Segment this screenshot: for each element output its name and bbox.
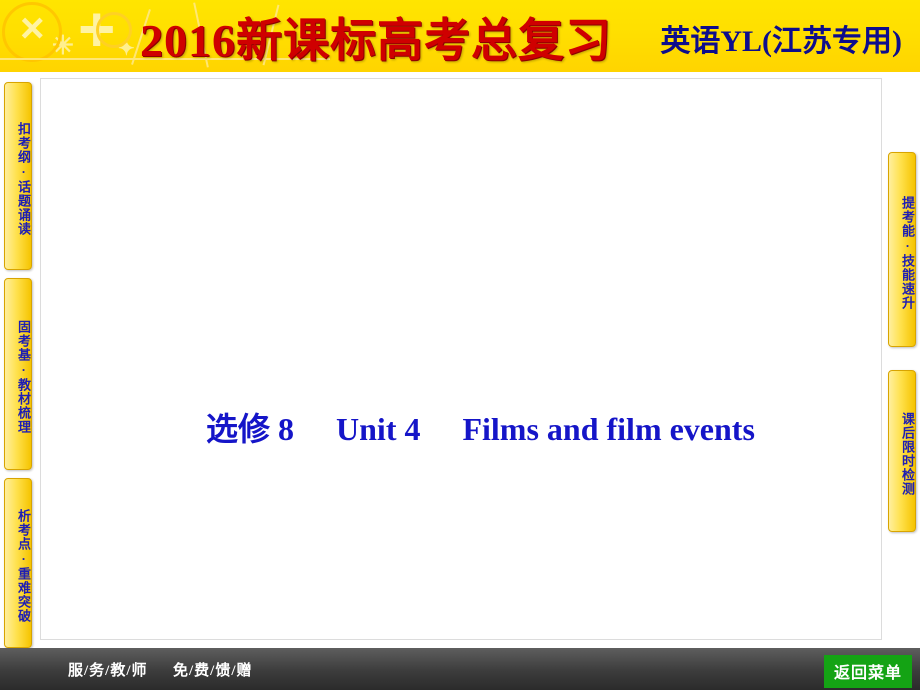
title-topic: Films and film events	[462, 411, 754, 447]
footer-bar: 服/务/教/师 免/费/馈/赠 返回菜单	[0, 648, 920, 690]
circle-ornament	[2, 2, 62, 62]
banner-subtitle: 英语YL(江苏专用)	[660, 16, 902, 60]
sidebar-tab-outline[interactable]: 扣考纲·话题诵读	[4, 82, 32, 270]
title-unit: Unit 4	[336, 411, 420, 447]
slide-stage: 选修 8 Unit 4 Films and film events	[40, 78, 882, 640]
footer-slogan-a: 服/务/教/师	[68, 663, 148, 679]
sidebar-tab-skills[interactable]: 提考能·技能速升	[888, 152, 916, 347]
banner-title: 2016新课标高考总复习	[140, 4, 612, 70]
top-banner: + × ✳ ✦ 2016新课标高考总复习 英语YL(江苏专用)	[0, 0, 920, 72]
sidebar-tab-timed-test[interactable]: 课后限时检测	[888, 370, 916, 532]
title-prefix: 选修 8	[206, 411, 294, 447]
sidebar-tab-textbook[interactable]: 固考基·教材梳理	[4, 278, 32, 470]
return-menu-button[interactable]: 返回菜单	[824, 655, 912, 688]
footer-slogan-b: 免/费/馈/赠	[173, 663, 253, 679]
page-title: 选修 8 Unit 4 Films and film events	[206, 404, 755, 450]
footer-slogan: 服/务/教/师 免/费/馈/赠	[68, 659, 253, 680]
sidebar-tab-keypoints[interactable]: 析考点·重难突破	[4, 478, 32, 648]
circle-ornament	[96, 12, 132, 48]
